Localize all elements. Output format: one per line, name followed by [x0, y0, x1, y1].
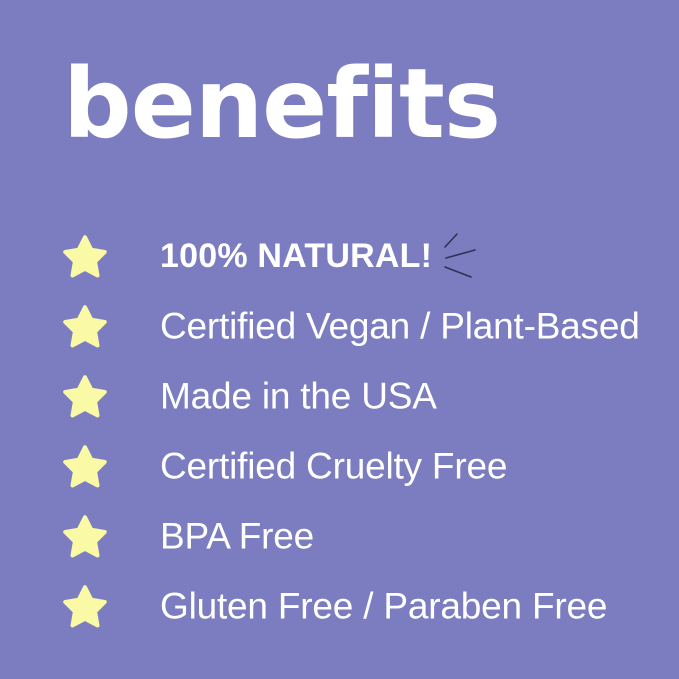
list-item: Made in the USA	[0, 362, 679, 432]
list-item-label: Gluten Free / Paraben Free	[160, 588, 607, 627]
list-item: BPA Free	[0, 502, 679, 572]
list-item-label: BPA Free	[160, 518, 314, 557]
list-item: Certified Vegan / Plant-Based	[0, 292, 679, 362]
list-item: Certified Cruelty Free	[0, 432, 679, 502]
list-item-label: Made in the USA	[160, 378, 437, 417]
star-icon	[63, 445, 107, 489]
list-item-label: Certified Cruelty Free	[160, 448, 507, 487]
star-icon	[63, 375, 107, 419]
star-icon	[63, 235, 107, 279]
list-item: Gluten Free / Paraben Free	[0, 572, 679, 642]
sparkle-icon	[441, 229, 493, 285]
page-title: benefits	[63, 56, 500, 152]
star-icon	[63, 515, 107, 559]
star-icon	[63, 585, 107, 629]
list-item: 100% NATURAL!	[0, 222, 679, 292]
list-item-label: Certified Vegan / Plant-Based	[160, 308, 640, 347]
benefits-list: 100% NATURAL! Certified Vegan / Plant-Ba…	[0, 222, 679, 642]
benefits-infographic-card: benefits 100% NATURAL!	[0, 0, 679, 679]
star-icon	[63, 305, 107, 349]
list-item-label: 100% NATURAL!	[160, 239, 432, 275]
